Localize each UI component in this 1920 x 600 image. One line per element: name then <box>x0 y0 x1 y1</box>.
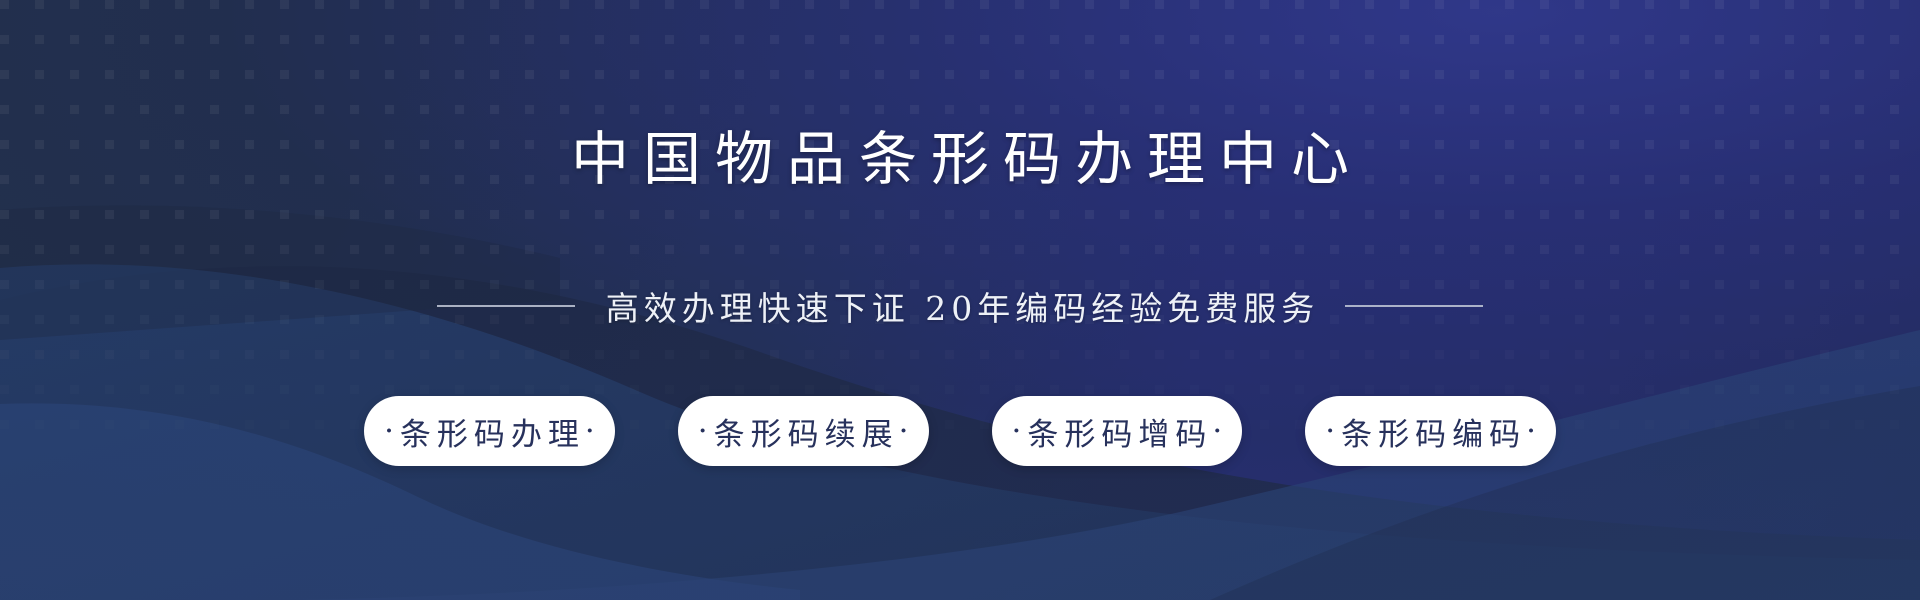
pill-barcode-addcode[interactable]: · 条形码增码 · <box>992 396 1243 466</box>
hero-banner: 中国物品条形码办理中心 高效办理快速下证 20年编码经验免费服务 · 条形码办理… <box>0 0 1920 600</box>
bullet-dot-left-icon: · <box>384 416 394 447</box>
right-rule-divider <box>1345 305 1483 307</box>
bullet-dot-left-icon: · <box>698 416 708 447</box>
pill-label: 条形码编码 <box>1335 409 1526 454</box>
pill-label: 条形码续展 <box>708 409 899 454</box>
pill-barcode-renew[interactable]: · 条形码续展 · <box>678 396 929 466</box>
pill-label: 条形码办理 <box>394 409 585 454</box>
bullet-dot-right-icon: · <box>1526 416 1536 447</box>
bullet-dot-right-icon: · <box>1212 416 1222 447</box>
bullet-dot-right-icon: · <box>899 416 909 447</box>
pill-label: 条形码增码 <box>1021 409 1212 454</box>
left-rule-divider <box>437 305 575 307</box>
pill-barcode-encode[interactable]: · 条形码编码 · <box>1305 396 1556 466</box>
service-pill-group: · 条形码办理 · · 条形码续展 · · 条形码增码 · · 条形码编码 · <box>0 396 1920 466</box>
page-title: 中国物品条形码办理中心 <box>0 125 1920 193</box>
bullet-dot-left-icon: · <box>1325 416 1335 447</box>
pill-barcode-apply[interactable]: · 条形码办理 · <box>364 396 615 466</box>
bullet-dot-right-icon: · <box>585 416 595 447</box>
banner-content: 中国物品条形码办理中心 高效办理快速下证 20年编码经验免费服务 · 条形码办理… <box>0 0 1920 600</box>
subtitle-row: 高效办理快速下证 20年编码经验免费服务 <box>0 282 1920 330</box>
bullet-dot-left-icon: · <box>1012 416 1022 447</box>
subtitle-text: 高效办理快速下证 20年编码经验免费服务 <box>601 282 1319 330</box>
